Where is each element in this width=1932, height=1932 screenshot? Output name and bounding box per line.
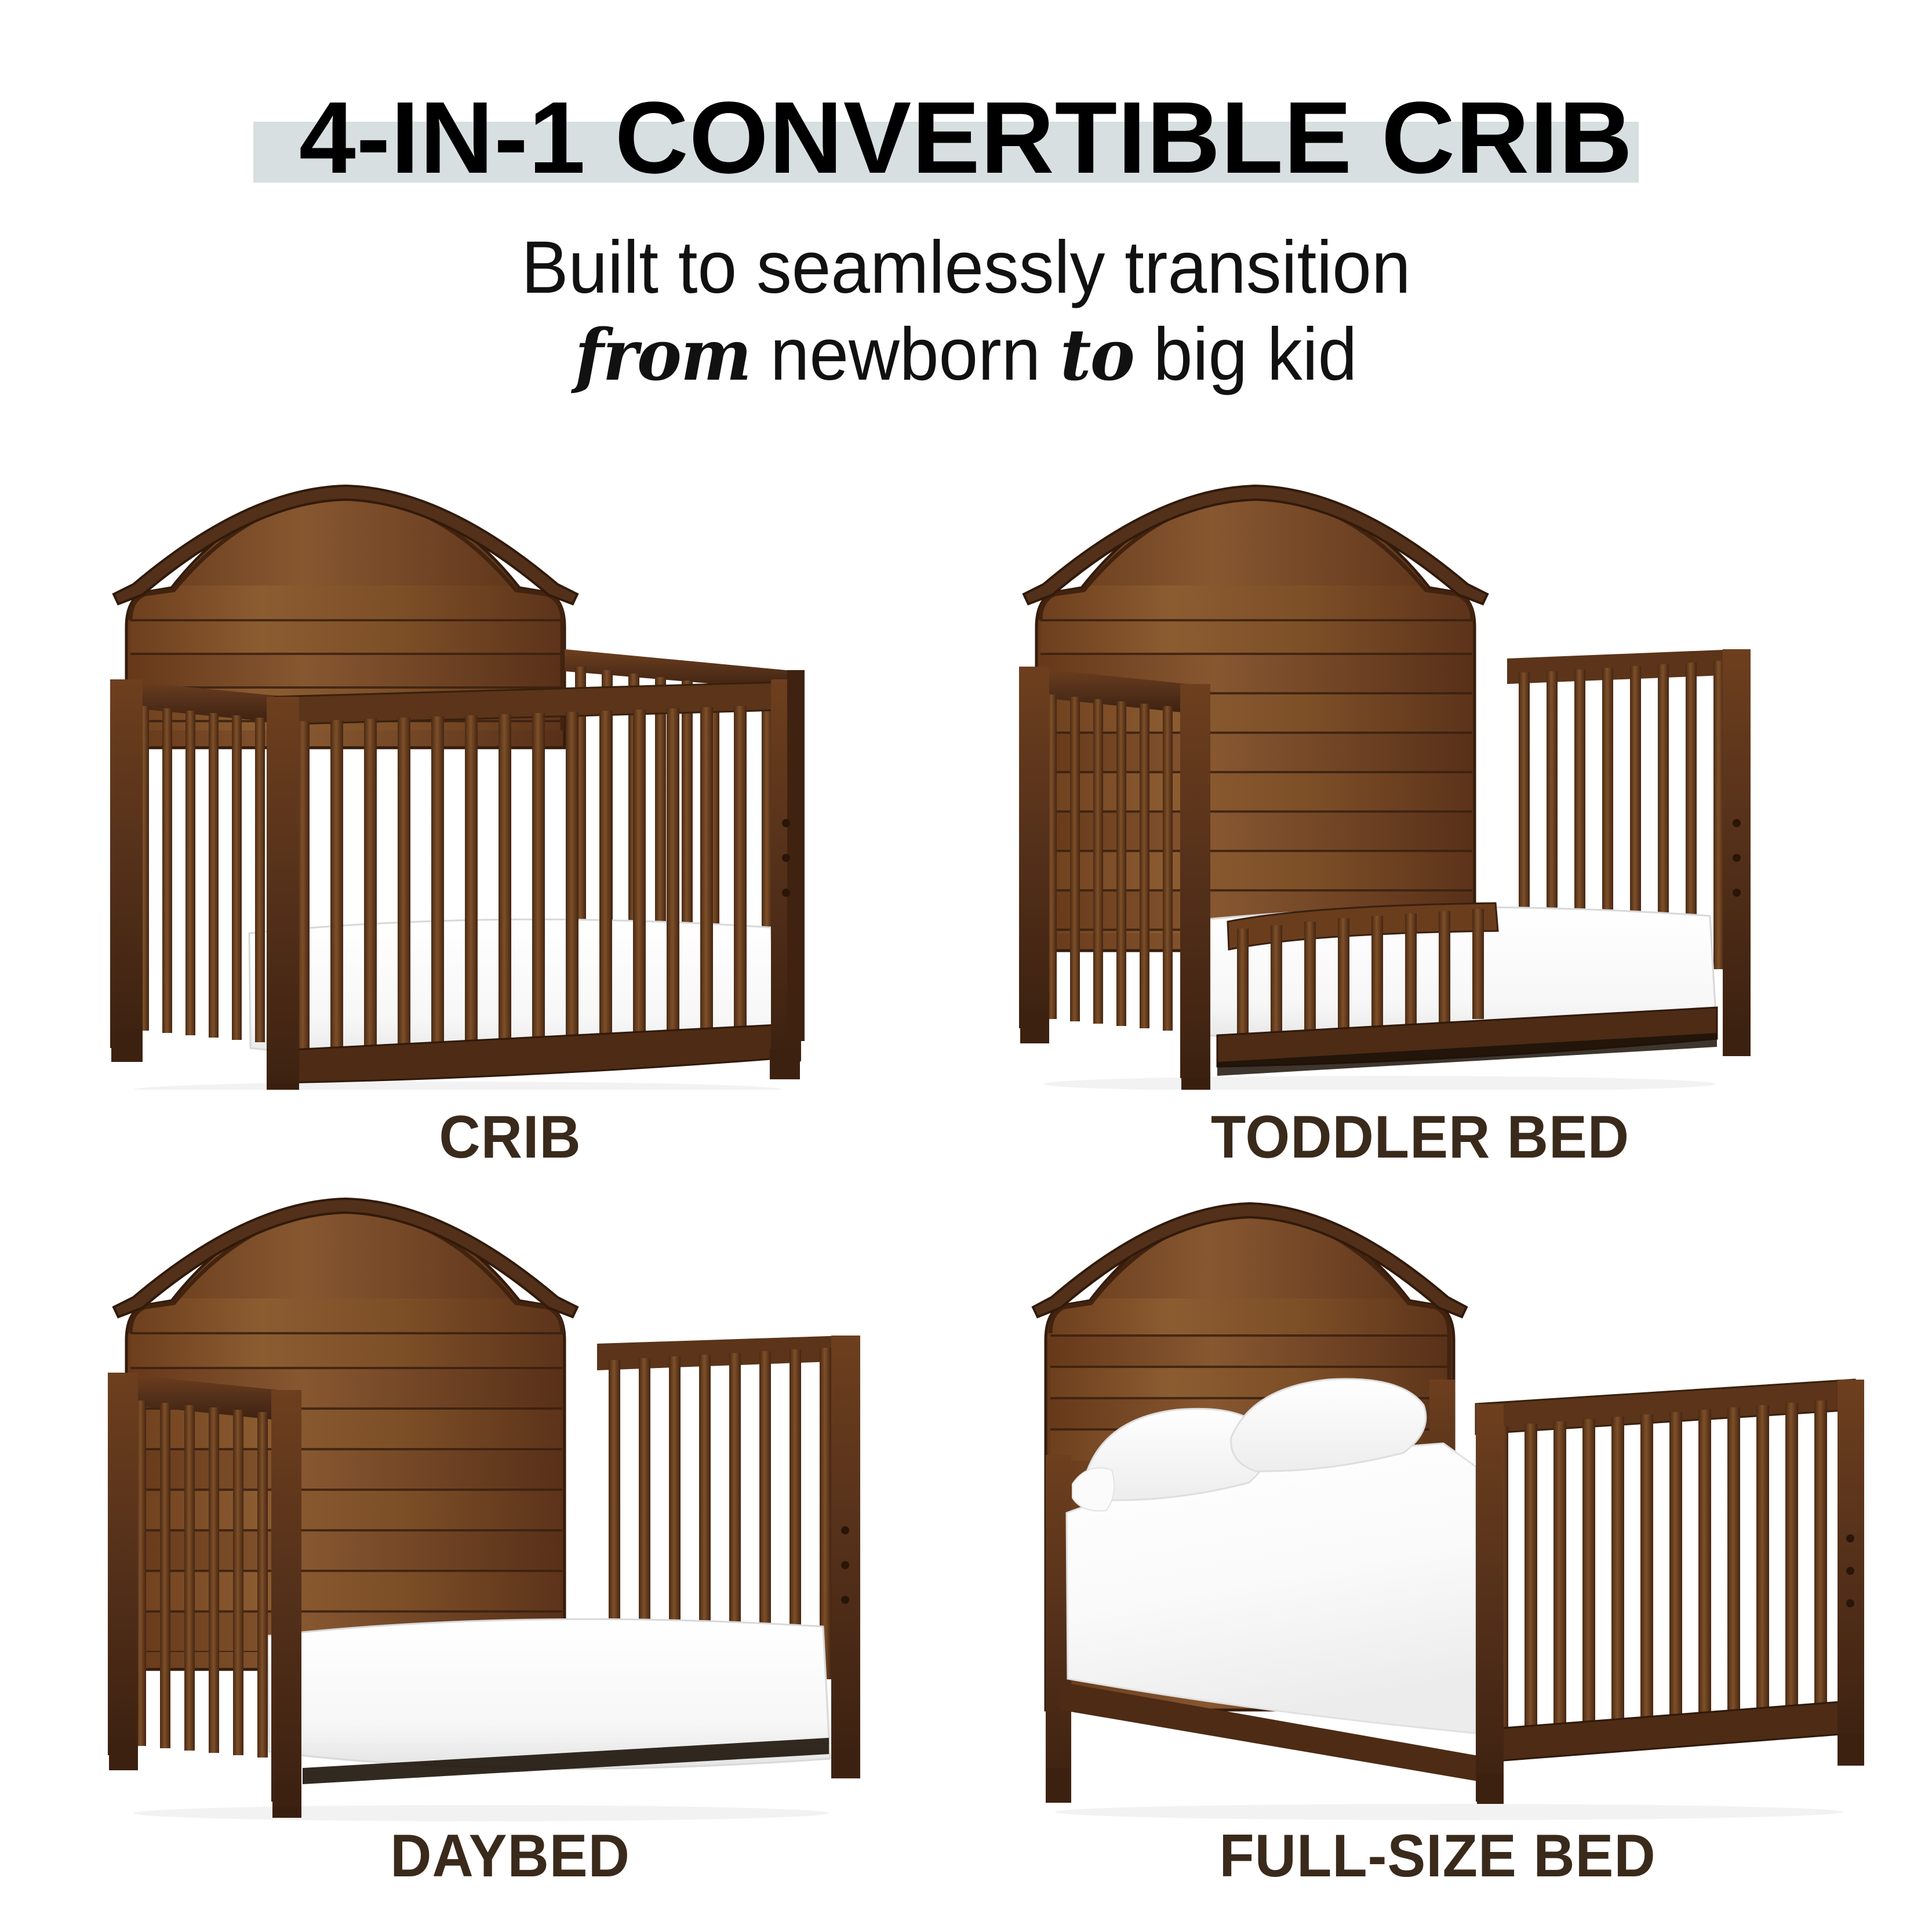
full-footboard-bottom-rail [1482,1701,1855,1762]
daybed-post-right [831,1336,860,1762]
subtitle-line-2: from newborn to big kid [48,318,1883,392]
product-cell-crib: CRIB [75,475,945,1183]
daybed-leg-back-left [109,1741,138,1770]
toddler-right-top-rail [1507,649,1738,684]
product-label-daybed: DAYBED [97,1826,923,1886]
daybed-right-top-rail [597,1336,846,1370]
daybed-leg-right [831,1748,860,1778]
subtitle-line-1: Built to seamlessly transition [48,231,1883,305]
subtitle-word-from: from [575,313,751,396]
full-leg-head-left [1047,1768,1071,1800]
product-label-full-size-bed: FULL-SIZE BED [1008,1826,1867,1886]
full-leg-foot-left [1477,1774,1504,1804]
toddler-post-right [1723,649,1751,1039]
daybed-image [75,1188,945,1826]
daybed-headboard-planks [130,1298,565,1664]
product-label-crib: CRIB [97,1107,923,1167]
toddler-post-back-left [1019,667,1049,1028]
full-size-bed-image [985,1188,1890,1826]
full-post-footboard-left [1476,1404,1504,1802]
crib-shadow [133,1082,783,1090]
full-footboard-slats [1496,1400,1827,1751]
full-leg-foot-right [1838,1735,1864,1766]
crib-leg-back-left [111,1032,143,1062]
subtitle-word-to: to [1060,313,1134,396]
product-cell-full-size-bed: FULL-SIZE BED [985,1188,1890,1919]
toddler-post-front-left [1180,684,1210,1078]
subtitle-word-newborn: newborn [770,313,1040,396]
toddler-bed-illustration [985,475,1855,1090]
product-label-toddler-bed: TODDLER BED [1007,1107,1833,1167]
product-cell-daybed: DAYBED [75,1188,945,1919]
page-title-wrap: 4-IN-1 CONVERTIBLE CRIB [0,87,1932,189]
product-cell-toddler-bed: TODDLER BED [985,475,1855,1183]
daybed-post-front-left [271,1390,301,1802]
product-grid: CRIB [0,441,1932,1932]
toddler-shadow [1043,1076,1716,1090]
daybed-shadow [133,1805,829,1821]
crib-post-back-right [787,670,805,1041]
daybed-illustration [75,1188,945,1826]
toddler-bed-image [985,475,1855,1090]
toddler-leg-right [1723,1026,1751,1056]
toddler-leg-back-left [1020,1014,1049,1043]
infographic-page: 4-IN-1 CONVERTIBLE CRIB Built to seamles… [0,0,1932,1932]
crib-illustration [75,475,945,1090]
crib-leg-front-right [770,1049,800,1079]
daybed-post-back-left [108,1373,138,1755]
crib-image [75,475,945,1090]
full-post-footboard-right [1838,1380,1864,1754]
full-size-bed-illustration [985,1188,1890,1826]
toddler-headboard-planks [1040,585,1475,945]
subtitle-word-bigkid: big kid [1154,313,1357,396]
crib-post-front-left [267,697,299,1090]
page-title: 4-IN-1 CONVERTIBLE CRIB [299,81,1633,195]
crib-left-side-slats [139,706,265,1042]
full-shadow [1055,1804,1843,1820]
header: 4-IN-1 CONVERTIBLE CRIB Built to seamles… [0,0,1932,429]
crib-post-back-left [110,679,143,1048]
